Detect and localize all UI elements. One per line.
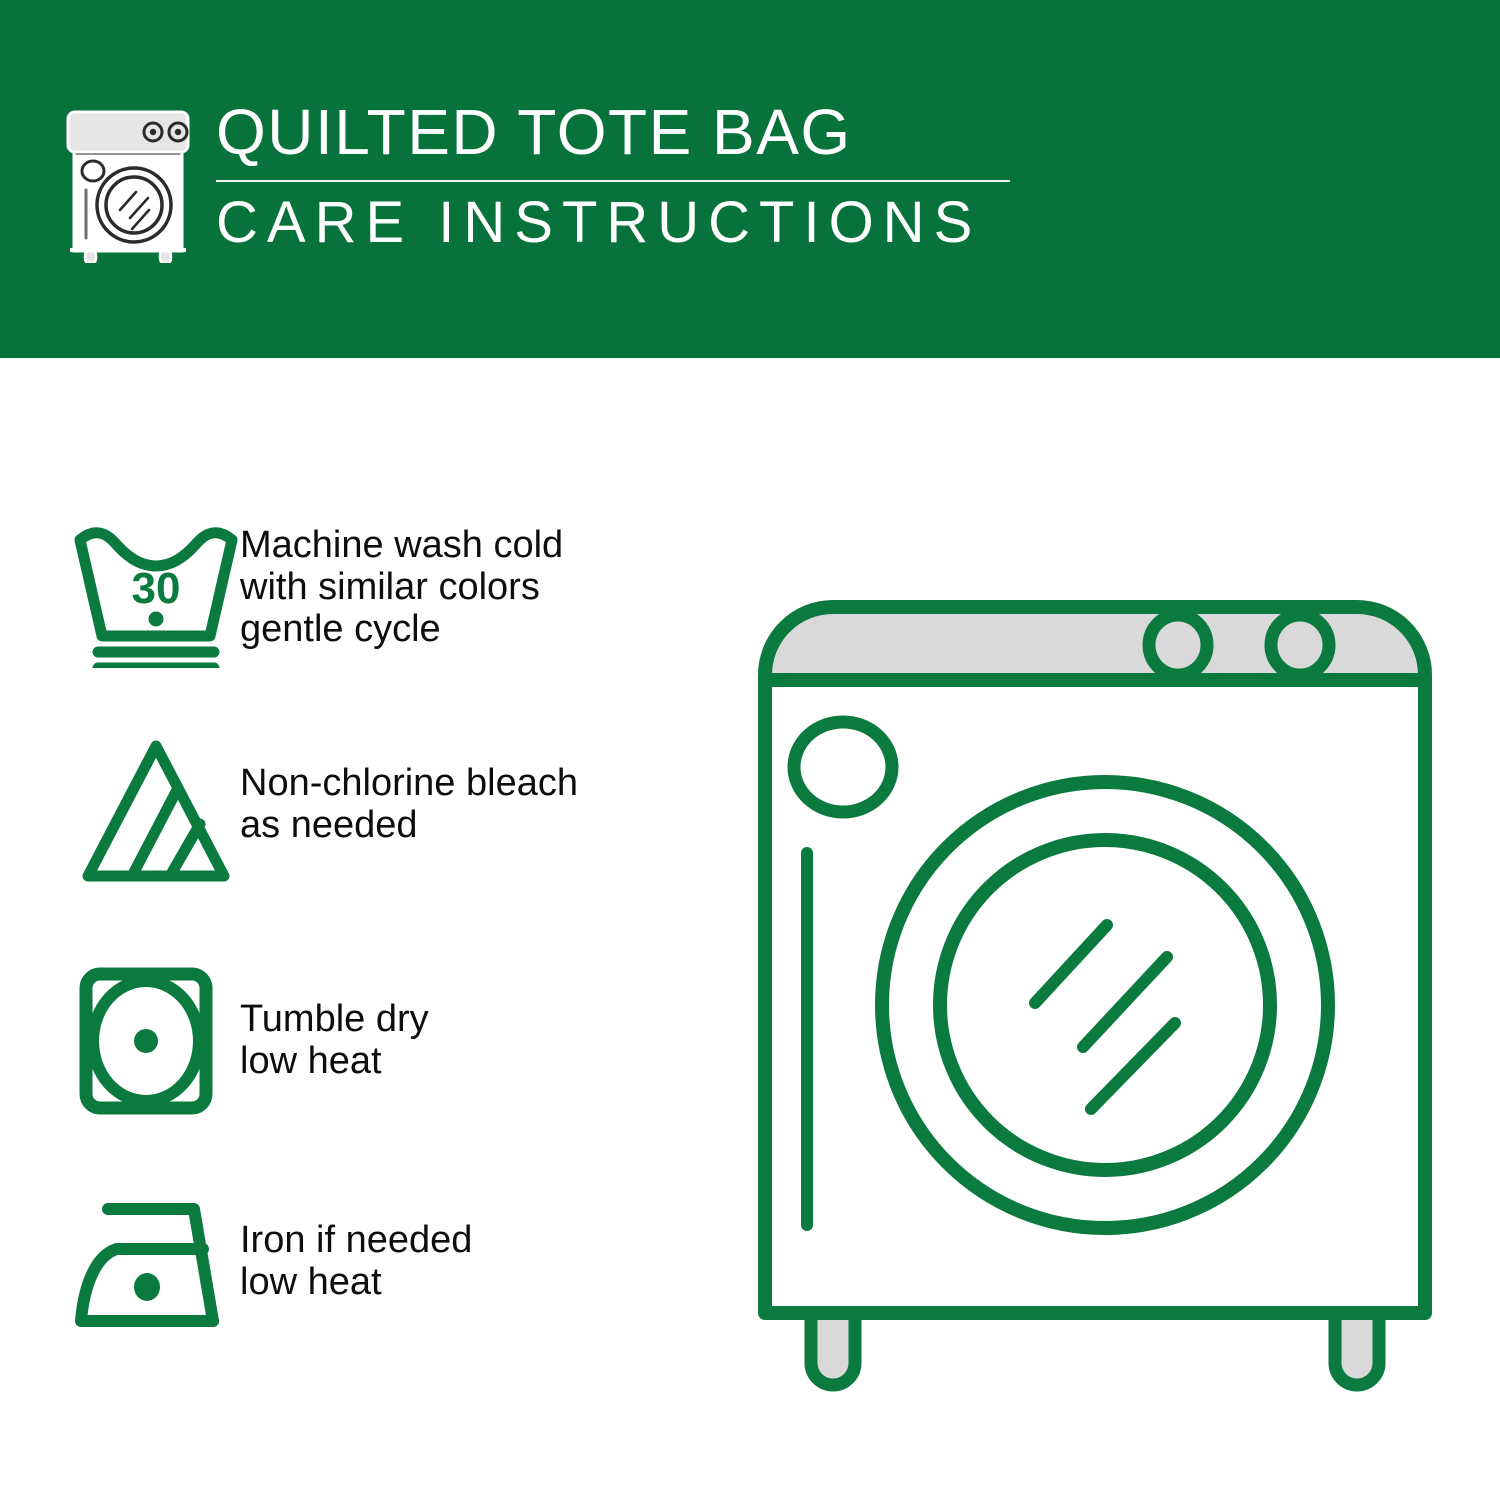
- drum-outer-ring: [882, 782, 1328, 1228]
- care-line: Non-chlorine bleach: [240, 762, 712, 804]
- care-line: low heat: [240, 1040, 712, 1082]
- care-text-tumble-dry: Tumble dry low heat: [240, 966, 712, 1082]
- care-symbol-list: 30 Machine wash cold with similar colors…: [0, 358, 740, 1500]
- dispenser-knob: [794, 722, 892, 812]
- care-line: low heat: [240, 1261, 712, 1303]
- drum-inner-ring: [940, 840, 1270, 1170]
- header-text-block: QUILTED TOTE BAG CARE INSTRUCTIONS: [216, 100, 1016, 252]
- care-row-bleach: Non-chlorine bleach as needed: [72, 736, 712, 886]
- care-line: with similar colors: [240, 566, 712, 608]
- care-text-iron: Iron if needed low heat: [240, 1193, 712, 1303]
- drum-streaks: [1035, 925, 1175, 1109]
- machine-leg-right: [1335, 1313, 1379, 1385]
- care-line: gentle cycle: [240, 608, 712, 650]
- washing-machine-illustration: [735, 485, 1450, 1445]
- title-divider: [216, 180, 1010, 182]
- header-banner: QUILTED TOTE BAG CARE INSTRUCTIONS: [0, 0, 1500, 358]
- care-row-machine-wash: 30 Machine wash cold with similar colors…: [72, 518, 712, 668]
- care-row-iron: Iron if needed low heat: [72, 1193, 712, 1343]
- non-chlorine-bleach-icon: [72, 736, 240, 886]
- care-text-machine-wash: Machine wash cold with similar colors ge…: [240, 518, 712, 650]
- iron-low-heat-icon: [72, 1193, 240, 1343]
- machine-leg-left: [811, 1313, 855, 1385]
- tumble-dry-low-icon: [72, 966, 240, 1116]
- care-line: Machine wash cold: [240, 524, 712, 566]
- page-subtitle: CARE INSTRUCTIONS: [216, 194, 1016, 252]
- machine-wash-30-icon: 30: [72, 518, 240, 668]
- care-line: Iron if needed: [240, 1219, 712, 1261]
- page-title: QUILTED TOTE BAG: [216, 100, 1016, 164]
- care-row-tumble-dry: Tumble dry low heat: [72, 966, 712, 1116]
- care-instructions-infographic: QUILTED TOTE BAG CARE INSTRUCTIONS: [0, 0, 1500, 1500]
- washing-machine-icon: [62, 108, 194, 263]
- care-line: as needed: [240, 804, 712, 846]
- care-line: Tumble dry: [240, 998, 712, 1040]
- wash-temperature-label: 30: [132, 564, 181, 613]
- care-text-bleach: Non-chlorine bleach as needed: [240, 736, 712, 846]
